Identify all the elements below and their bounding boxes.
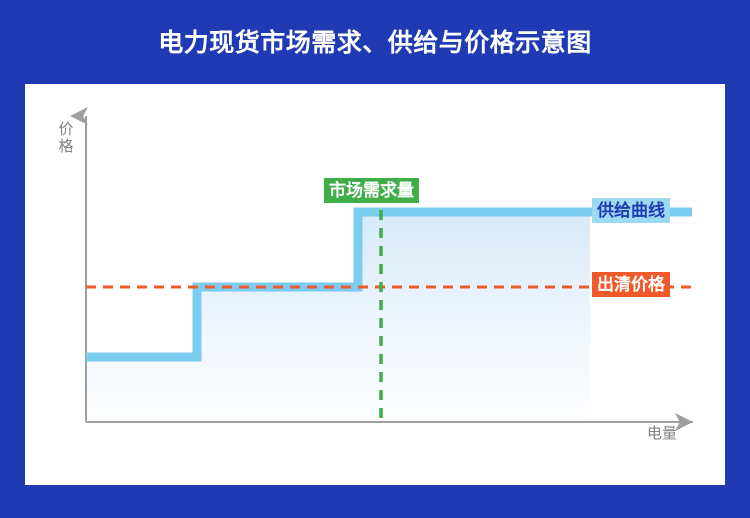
slide-root: 电力现货市场需求、供给与价格示意图 [0, 0, 750, 518]
y-axis-label: 价 格 [57, 121, 75, 155]
clearing-price-badge: 出清价格 [592, 272, 670, 297]
supply-curve-badge: 供给曲线 [592, 198, 670, 223]
page-title: 电力现货市场需求、供给与价格示意图 [0, 26, 750, 60]
x-axis-label: 电量 [647, 425, 695, 442]
supply-area-fill [86, 212, 590, 422]
chart-card: 价 格 电量 市场需求量 供给曲线 出清价格 [25, 84, 725, 485]
market-demand-badge: 市场需求量 [324, 178, 419, 203]
